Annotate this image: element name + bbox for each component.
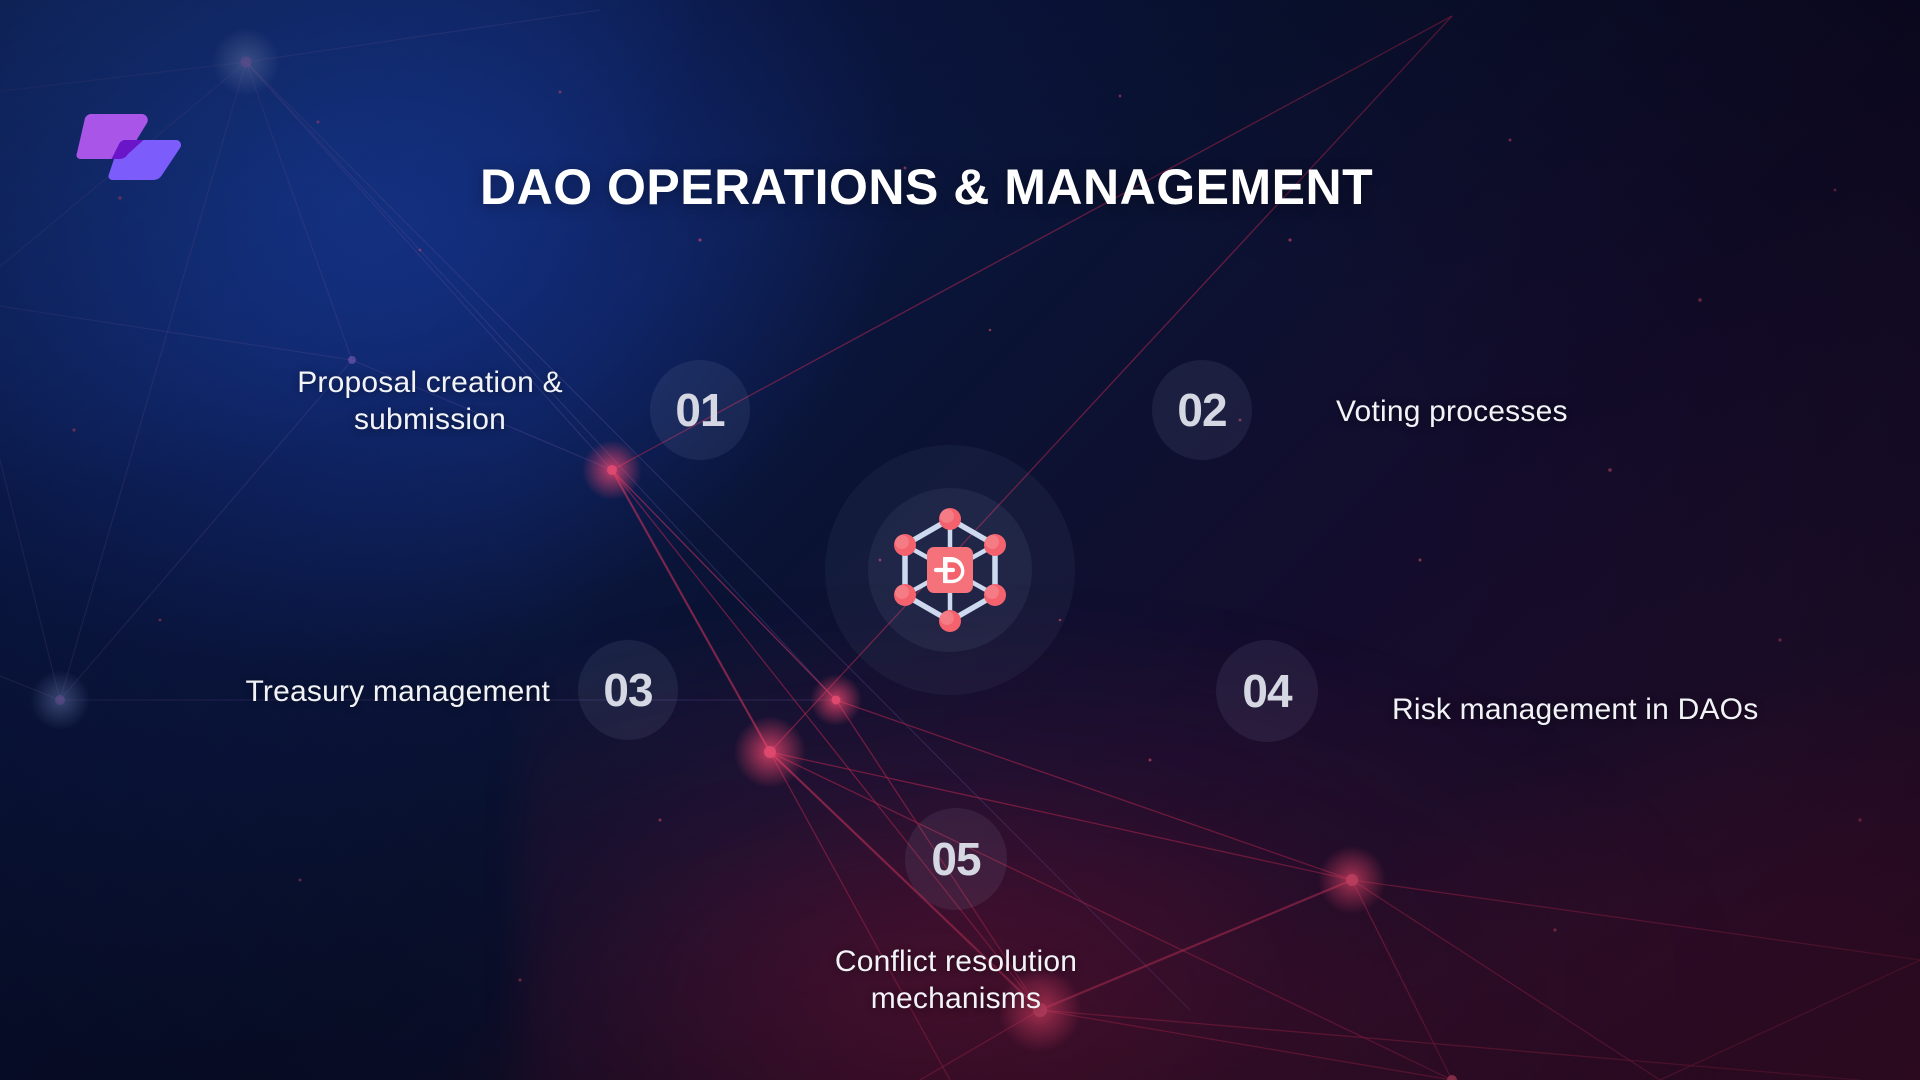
brand-logo[interactable] [76,112,186,184]
badge-number-05[interactable]: 05 [905,808,1007,910]
item-label-04: Risk management in DAOs [1392,692,1872,729]
item-label-02: Voting processes [1336,394,1816,431]
badge-number-04[interactable]: 04 [1216,640,1318,742]
item-label-03: Treasury management [130,674,550,711]
badge-number-02[interactable]: 02 [1152,360,1252,460]
item-label-05: Conflict resolution mechanisms [766,944,1146,1017]
badge-number-01[interactable]: 01 [650,360,750,460]
slide-canvas: DAO OPERATIONS & MANAGEMENT [0,0,1920,1080]
page-title: DAO OPERATIONS & MANAGEMENT [480,158,1480,216]
hexagon-network-icon [883,503,1017,637]
item-label-01: Proposal creation & submission [230,365,630,438]
dao-network-emblem [825,445,1075,695]
badge-number-03[interactable]: 03 [578,640,678,740]
